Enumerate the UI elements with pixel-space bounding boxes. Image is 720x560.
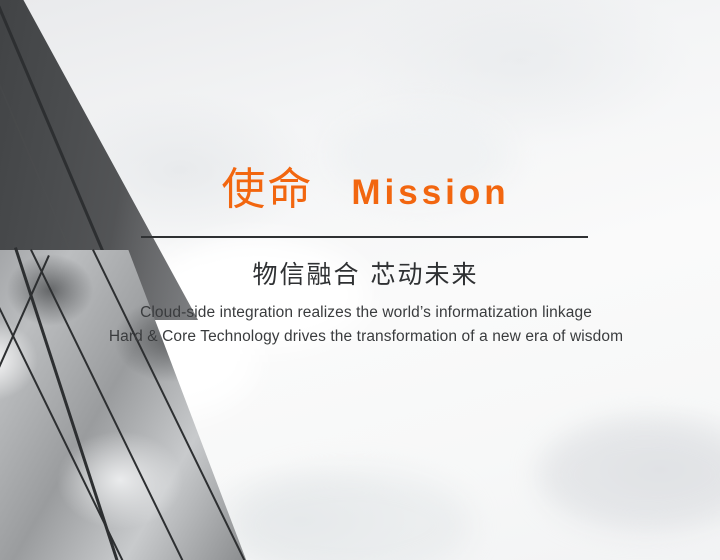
subtitle-english: Cloud-side integration realizes the worl… — [60, 301, 672, 349]
hero-headline: 使命 Mission — [141, 168, 590, 212]
mission-hero-banner: 使命 Mission 物信融合 芯动未来 Cloud-side integrat… — [0, 0, 720, 560]
headline-chinese: 使命 — [221, 168, 313, 212]
cloud-wisp — [230, 470, 470, 560]
headline-english: Mission — [351, 175, 509, 210]
headline-divider — [141, 236, 588, 238]
subtitle-english-line-2: Hard & Core Technology drives the transf… — [60, 325, 672, 349]
glass-curtain-wall — [0, 250, 250, 560]
cloud-wisp — [540, 420, 720, 530]
subtitle-english-line-1: Cloud-side integration realizes the worl… — [60, 301, 672, 325]
subtitle-chinese: 物信融合 芯动未来 — [141, 258, 590, 292]
